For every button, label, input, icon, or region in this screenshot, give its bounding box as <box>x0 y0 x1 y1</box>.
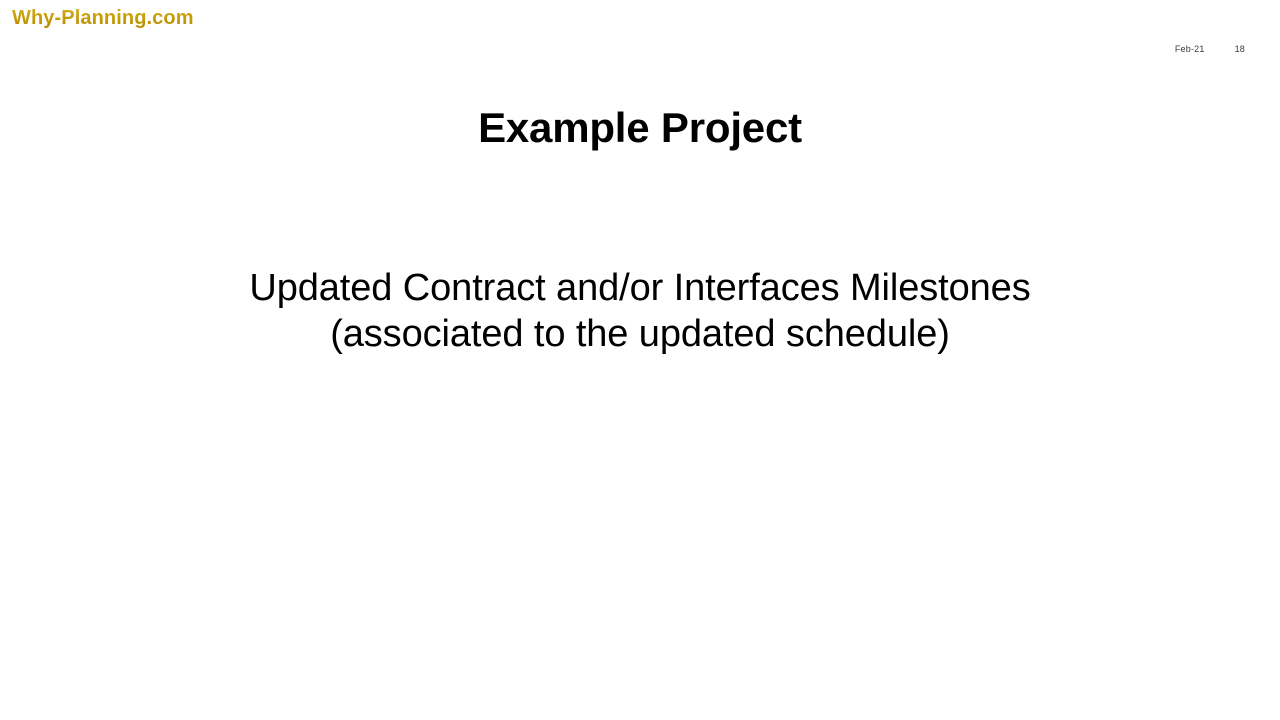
slide-header-meta: Feb-21 18 <box>1175 44 1245 55</box>
slide-date: Feb-21 <box>1175 44 1205 55</box>
page-title: Example Project <box>0 102 1280 154</box>
presentation-slide: Why-Planning.com Feb-21 18 Example Proje… <box>0 0 1280 720</box>
slide-page-number: 18 <box>1235 44 1245 55</box>
brand-logo: Why-Planning.com <box>12 5 194 31</box>
body-line-2: (associated to the updated schedule) <box>90 311 1190 357</box>
body-line-1: Updated Contract and/or Interfaces Miles… <box>90 265 1190 311</box>
slide-body-text: Updated Contract and/or Interfaces Miles… <box>90 265 1190 357</box>
